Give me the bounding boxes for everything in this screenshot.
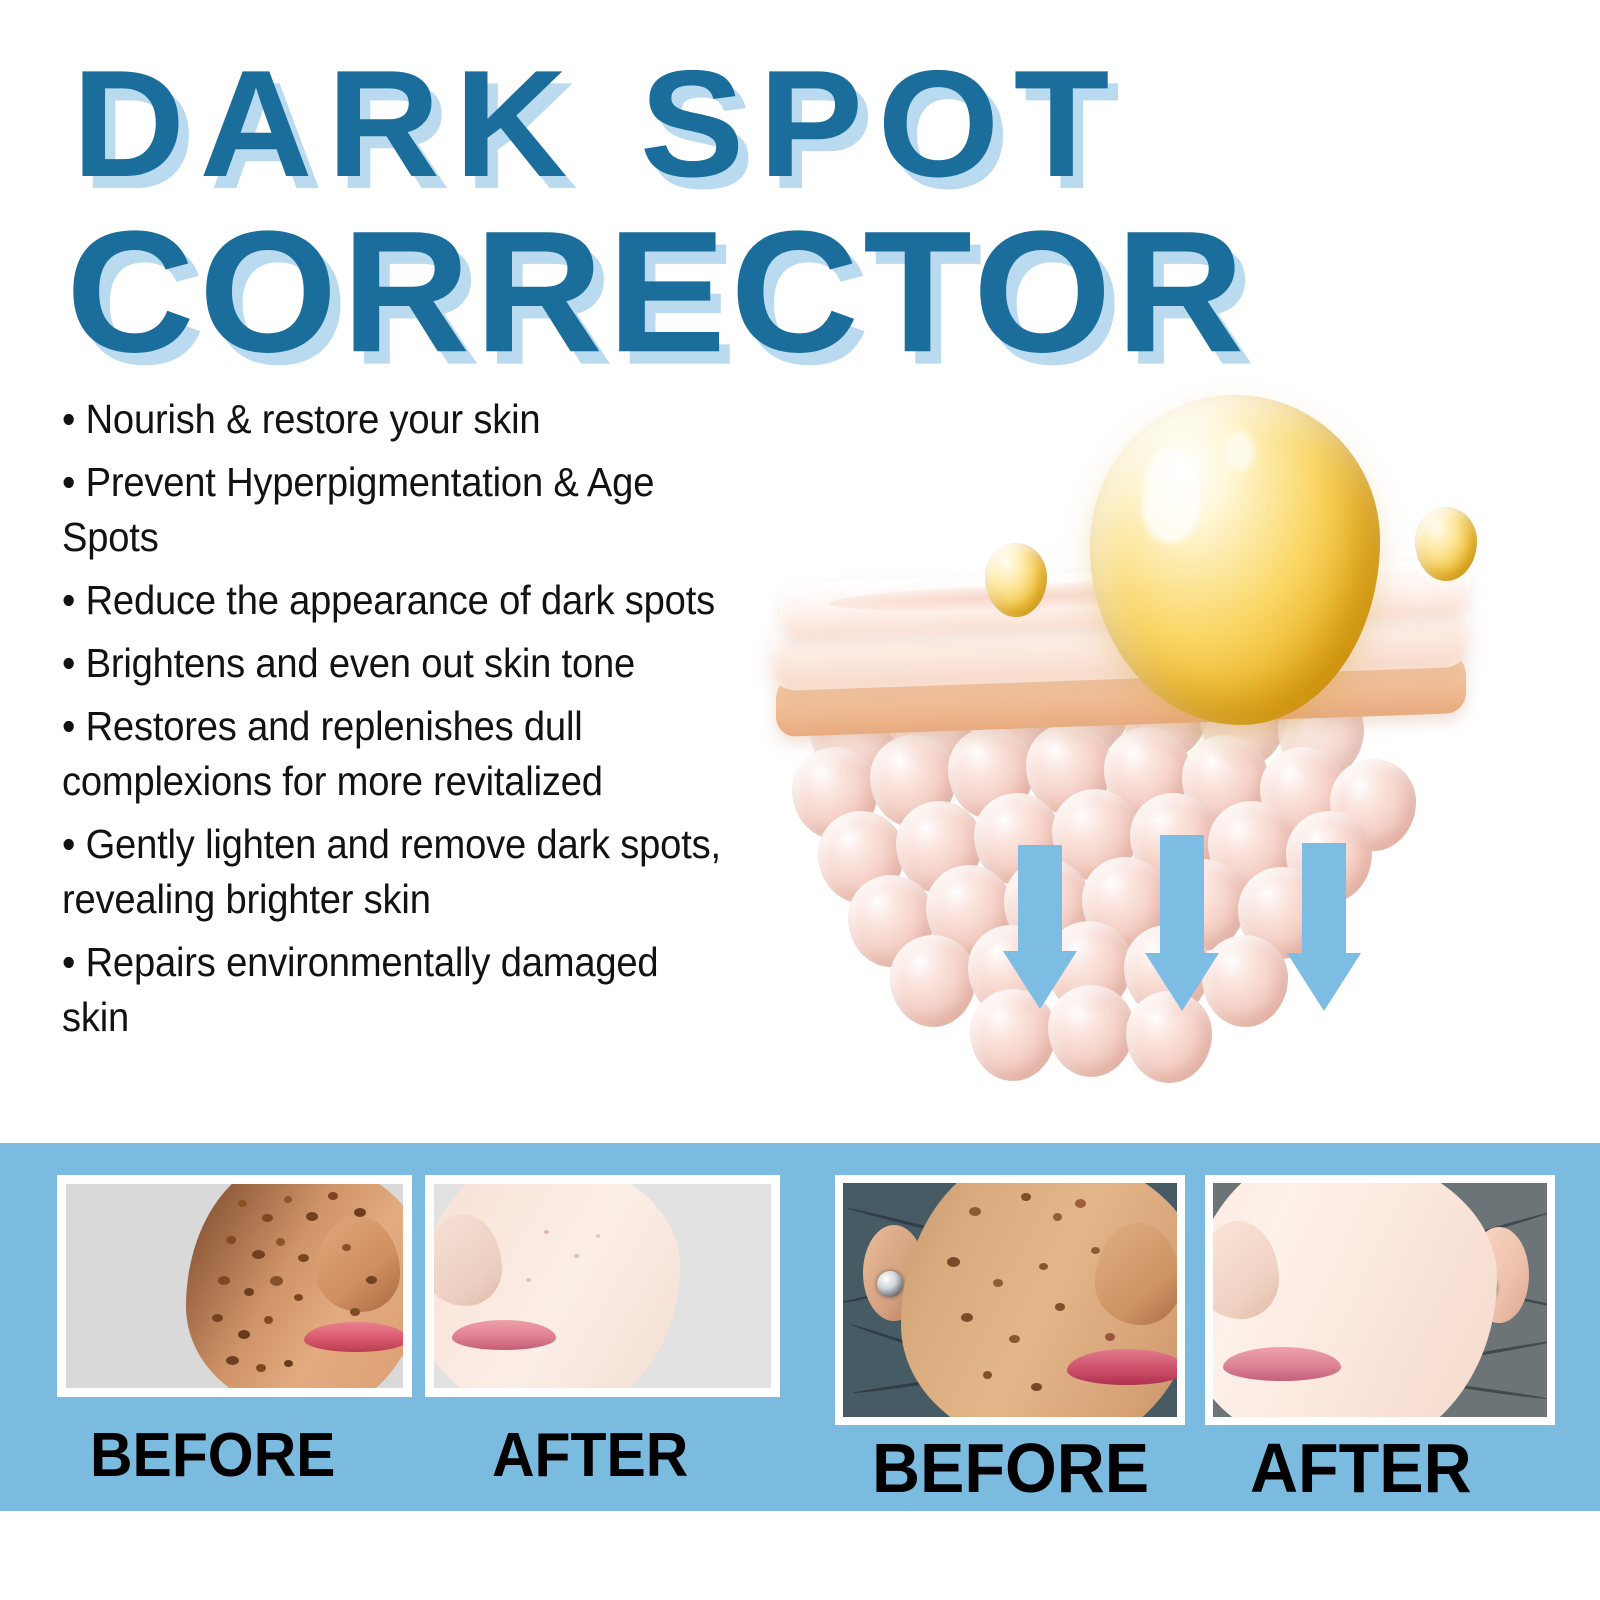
dermis-cell-cluster xyxy=(770,685,1470,1105)
droplet-highlight-small xyxy=(1225,431,1255,471)
benefits-list: • Nourish & restore your skin • Prevent … xyxy=(62,392,782,1053)
after-label: AFTER xyxy=(492,1425,688,1487)
benefit-item: • Reduce the appearance of dark spots xyxy=(62,573,732,628)
absorption-arrow xyxy=(1018,845,1062,1009)
absorption-arrow xyxy=(1160,835,1204,1011)
page-title-line-2: CORRECTOR xyxy=(66,205,1249,378)
benefit-item: • Prevent Hyperpigmentation & Age Spots xyxy=(62,455,732,565)
skin-absorption-illustration xyxy=(770,375,1600,1115)
before-photo-frame xyxy=(835,1175,1185,1425)
before-photo-blemished xyxy=(843,1183,1177,1417)
benefit-item: • Brightens and even out skin tone xyxy=(62,636,732,691)
after-photo-smooth xyxy=(1213,1183,1547,1417)
earring-stud xyxy=(877,1271,903,1297)
before-photo-frame xyxy=(57,1175,412,1397)
after-photo-frame xyxy=(1205,1175,1555,1425)
title-block: DARK SPOT CORRECTOR xyxy=(0,0,1600,375)
serum-droplet-small-right xyxy=(1415,507,1477,581)
after-photo-frame xyxy=(425,1175,780,1397)
benefit-item: • Nourish & restore your skin xyxy=(62,392,732,447)
before-label: BEFORE xyxy=(90,1425,335,1487)
after-label: AFTER xyxy=(1250,1433,1472,1503)
after-photo-clear xyxy=(434,1184,771,1388)
benefit-item: • Gently lighten and remove dark spots, … xyxy=(62,817,732,927)
before-label: BEFORE xyxy=(872,1433,1149,1503)
benefit-item: • Restores and replenishes dull complexi… xyxy=(62,699,732,809)
before-photo-freckled xyxy=(66,1184,403,1388)
results-band: BEFORE AFTER xyxy=(0,1143,1600,1511)
page-title-line-1: DARK SPOT xyxy=(72,48,1124,200)
absorption-arrow xyxy=(1302,843,1346,1011)
product-infographic: DARK SPOT CORRECTOR • Nourish & restore … xyxy=(0,0,1600,1600)
benefit-item: • Repairs environmentally damaged skin xyxy=(62,935,732,1045)
